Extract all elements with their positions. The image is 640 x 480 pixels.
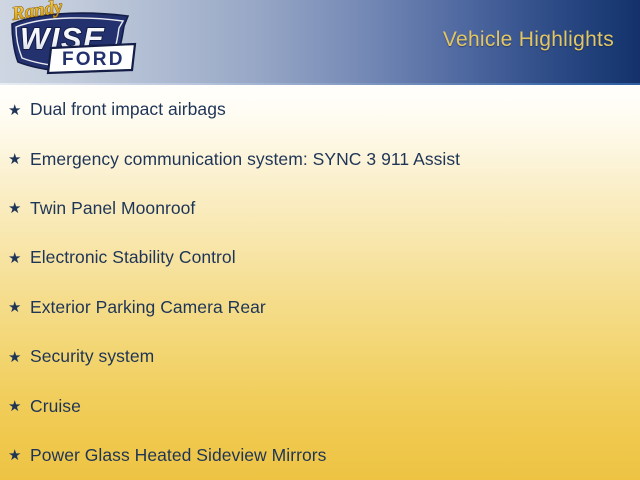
list-item: ★ Dual front impact airbags <box>0 85 640 134</box>
highlight-label: Security system <box>30 346 154 367</box>
logo-artwork: WISE Randy FORD <box>4 0 139 80</box>
highlight-label: Exterior Parking Camera Rear <box>30 297 266 318</box>
logo-ford-text: FORD <box>62 49 125 70</box>
star-icon: ★ <box>8 398 30 414</box>
randy-wise-ford-logo[interactable]: WISE Randy FORD <box>4 0 139 80</box>
star-icon: ★ <box>8 151 30 167</box>
list-item: ★ Security system <box>0 332 640 381</box>
list-item: ★ Twin Panel Moonroof <box>0 184 640 233</box>
star-icon: ★ <box>8 299 30 315</box>
highlight-label: Cruise <box>30 396 81 417</box>
star-icon: ★ <box>8 447 30 463</box>
vehicle-highlights-page: WISE Randy FORD Vehicle Highlights ★ Dua… <box>0 0 640 480</box>
list-item: ★ Exterior Parking Camera Rear <box>0 283 640 332</box>
highlight-label: Electronic Stability Control <box>30 247 236 268</box>
star-icon: ★ <box>8 250 30 266</box>
highlight-label: Power Glass Heated Sideview Mirrors <box>30 445 326 466</box>
star-icon: ★ <box>8 102 30 118</box>
list-item: ★ Cruise <box>0 381 640 430</box>
star-icon: ★ <box>8 349 30 365</box>
list-item: ★ Power Glass Heated Sideview Mirrors <box>0 431 640 480</box>
highlight-label: Dual front impact airbags <box>30 99 226 120</box>
star-icon: ★ <box>8 200 30 216</box>
highlight-label: Emergency communication system: SYNC 3 9… <box>30 149 460 170</box>
header-bar: WISE Randy FORD Vehicle Highlights <box>0 0 640 83</box>
list-item: ★ Electronic Stability Control <box>0 233 640 282</box>
highlight-label: Twin Panel Moonroof <box>30 198 195 219</box>
list-item: ★ Emergency communication system: SYNC 3… <box>0 134 640 183</box>
page-title: Vehicle Highlights <box>443 28 614 52</box>
vehicle-highlights-list: ★ Dual front impact airbags ★ Emergency … <box>0 85 640 480</box>
